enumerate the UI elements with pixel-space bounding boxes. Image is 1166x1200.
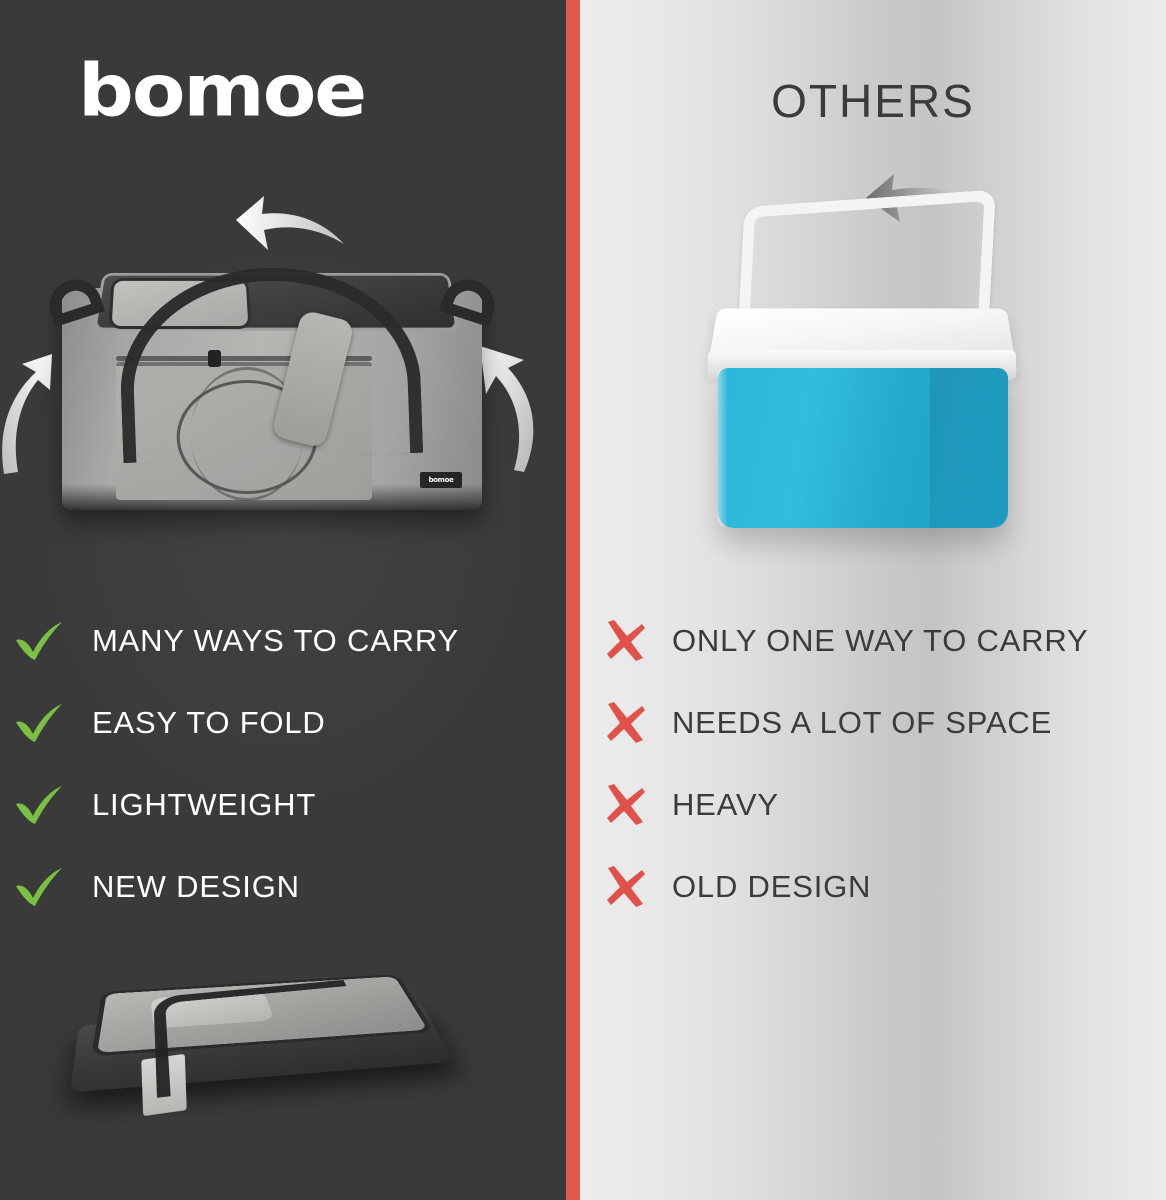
list-item: ONLY ONE WAY TO CARRY <box>594 600 1166 682</box>
feature-label: HEAVY <box>656 787 779 823</box>
cooler-body-side <box>930 368 1008 528</box>
folded-bag <box>60 945 460 1145</box>
cross-icon <box>594 618 656 664</box>
brand-logo: bomoe <box>78 55 365 128</box>
feature-label: EASY TO FOLD <box>70 705 326 741</box>
cross-icon <box>594 782 656 828</box>
panel-divider <box>566 0 580 1200</box>
feature-label: MANY WAYS TO CARRY <box>70 623 459 659</box>
bomoe-feature-list: MANY WAYS TO CARRY EASY TO FOLD LIGHTWEI… <box>0 600 566 928</box>
others-title: OTHERS <box>580 78 1166 124</box>
blue-cooler-box-image <box>580 150 1166 580</box>
check-icon <box>8 784 70 826</box>
bomoe-cooler-bag-image: bomoe <box>0 180 566 580</box>
check-icon <box>8 702 70 744</box>
folded-bag-strap <box>153 980 385 1098</box>
list-item: NEEDS A LOT OF SPACE <box>594 682 1166 764</box>
brand-panel: bomoe <box>0 0 566 1200</box>
cooler-body-highlight <box>718 368 728 528</box>
cross-icon <box>594 700 656 746</box>
cooler-bag: bomoe <box>62 252 482 522</box>
feature-label: ONLY ONE WAY TO CARRY <box>656 623 1088 659</box>
feature-label: NEW DESIGN <box>70 869 300 905</box>
hard-cooler-box <box>698 198 1028 528</box>
list-item: OLD DESIGN <box>594 846 1166 928</box>
feature-label: LIGHTWEIGHT <box>70 787 316 823</box>
feature-label: OLD DESIGN <box>656 869 871 905</box>
others-panel: OTHERS <box>580 0 1166 1200</box>
cooler-carry-handle <box>738 189 996 326</box>
others-feature-list: ONLY ONE WAY TO CARRY NEEDS A LOT OF SPA… <box>580 600 1166 928</box>
check-icon <box>8 620 70 662</box>
check-icon <box>8 866 70 908</box>
list-item: EASY TO FOLD <box>8 682 566 764</box>
list-item: HEAVY <box>594 764 1166 846</box>
cross-icon <box>594 864 656 910</box>
bag-brand-tag: bomoe <box>420 472 462 488</box>
folded-cooler-bag-image <box>0 915 566 1200</box>
list-item: MANY WAYS TO CARRY <box>8 600 566 682</box>
list-item: LIGHTWEIGHT <box>8 764 566 846</box>
comparison-infographic: bomoe <box>0 0 1166 1200</box>
cooler-body <box>718 368 1008 528</box>
feature-label: NEEDS A LOT OF SPACE <box>656 705 1052 741</box>
